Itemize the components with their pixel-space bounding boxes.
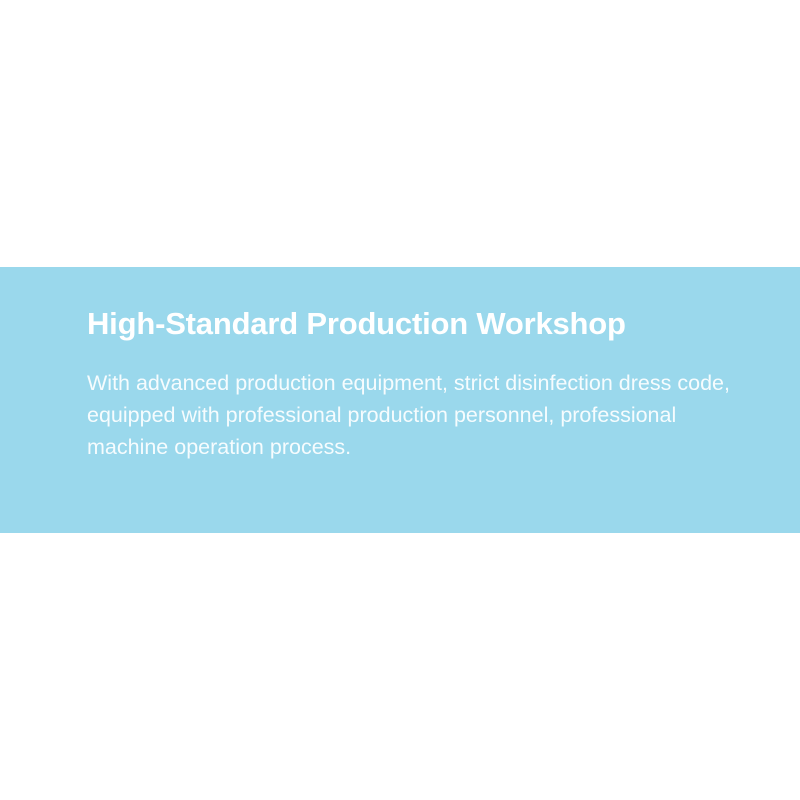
production-workshop-banner: High-Standard Production Workshop With a… — [0, 267, 800, 533]
banner-description: With advanced production equipment, stri… — [87, 367, 733, 463]
banner-title: High-Standard Production Workshop — [87, 305, 626, 343]
bottom-whitespace — [0, 533, 800, 800]
banner-content: High-Standard Production Workshop With a… — [87, 267, 747, 533]
top-whitespace — [0, 0, 800, 267]
page-root: High-Standard Production Workshop With a… — [0, 0, 800, 800]
